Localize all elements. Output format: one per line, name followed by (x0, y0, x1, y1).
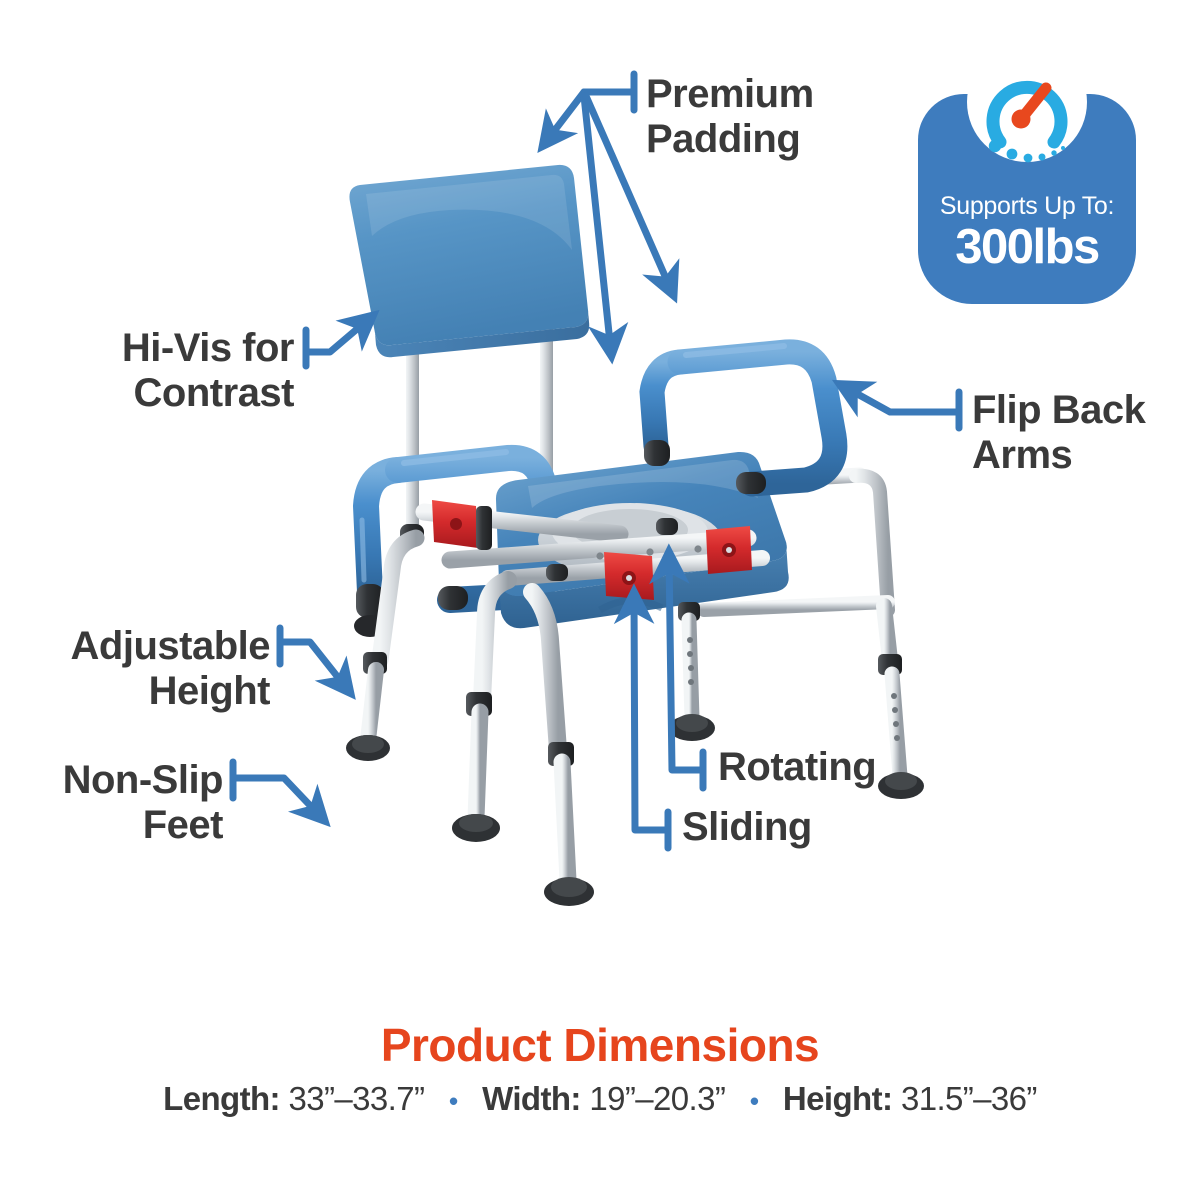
dimension-width-value: 19”–20.3” (589, 1080, 725, 1117)
arrow-sliding (634, 596, 668, 848)
callout-non-slip-feet: Non-Slip Feet (20, 758, 223, 848)
weight-capacity-badge: Supports Up To: 300lbs (918, 42, 1136, 304)
arrow-rotating (669, 556, 703, 788)
dimension-length: Length: 33”–33.7” (163, 1080, 433, 1117)
callout-adjustable-height: Adjustable Height (20, 624, 270, 714)
dimension-height-value: 31.5”–36” (901, 1080, 1037, 1117)
callout-flip-back-arms: Flip Back Arms (972, 388, 1192, 478)
weight-scale-gauge-icon (967, 42, 1087, 168)
dimension-width: Width: 19”–20.3” (482, 1080, 734, 1117)
arrow-flip-back-arms (843, 386, 959, 428)
dimension-separator-2: • (734, 1086, 775, 1117)
callout-premium-padding: Premium Padding (646, 72, 906, 162)
callout-rotating: Rotating (718, 745, 978, 790)
product-dimensions-title: Product Dimensions (0, 1018, 1200, 1072)
callout-hi-vis-contrast: Hi-Vis for Contrast (60, 326, 294, 416)
dimension-height-label: Height: (783, 1080, 892, 1117)
dimension-length-label: Length: (163, 1080, 280, 1117)
dimension-length-value: 33”–33.7” (289, 1080, 425, 1117)
dimension-width-label: Width: (482, 1080, 581, 1117)
arrow-hi-vis-contrast (306, 318, 370, 366)
product-dimensions-row: Length: 33”–33.7” • Width: 19”–20.3” • H… (0, 1080, 1200, 1118)
arrow-adjustable-height (280, 628, 348, 690)
dimension-separator-1: • (433, 1086, 474, 1117)
badge-capacity-value: 300lbs (918, 219, 1136, 275)
badge-text-block: Supports Up To: 300lbs (918, 192, 1136, 275)
arrow-non-slip-feet (233, 762, 322, 818)
badge-supports-label: Supports Up To: (918, 192, 1136, 221)
callout-sliding: Sliding (682, 805, 942, 850)
dimension-height: Height: 31.5”–36” (783, 1080, 1037, 1117)
infographic-canvas: Premium Padding Hi-Vis for Contrast Flip… (0, 0, 1200, 1200)
